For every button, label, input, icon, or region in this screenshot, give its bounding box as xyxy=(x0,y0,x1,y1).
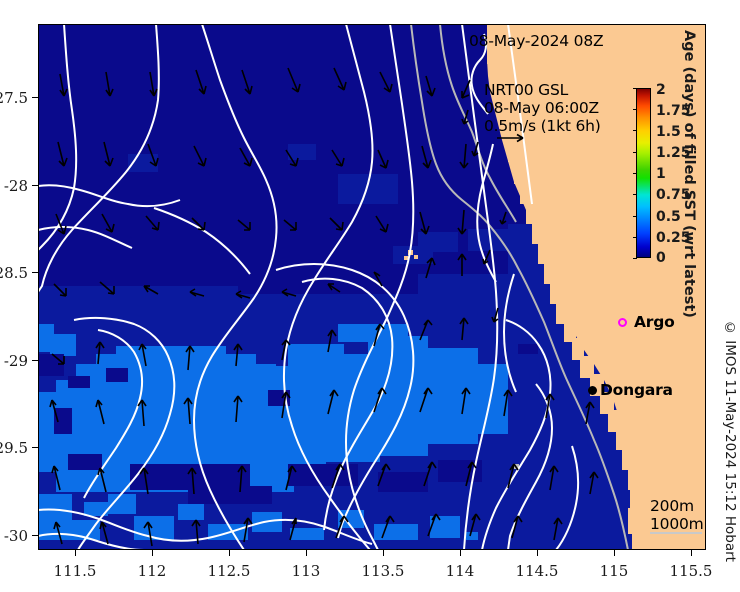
colorbar-tick xyxy=(633,173,637,174)
x-tick xyxy=(306,550,307,556)
bathy-200m-label: 200m xyxy=(650,497,694,515)
colorbar-tick xyxy=(633,237,637,238)
product-time-label: 08-May 06:00Z xyxy=(484,99,599,117)
x-tick-label: 113.5 xyxy=(362,562,405,580)
x-tick xyxy=(537,550,538,556)
bathy-1000m-label: 1000m xyxy=(650,515,704,533)
colorbar-tick xyxy=(633,152,637,153)
figure-canvas: 08-May-2024 08Z NRT00 GSL 08-May 06:00Z … xyxy=(0,0,740,592)
dongara-place-label: Dongara xyxy=(600,381,673,399)
x-tick-label: 114 xyxy=(446,562,475,580)
y-tick xyxy=(32,185,38,186)
timestamp-label: 08-May-2024 08Z xyxy=(469,32,603,50)
x-tick-label: 113 xyxy=(292,562,321,580)
dongara-marker-icon xyxy=(588,386,597,395)
product-name-label: NRT00 GSL xyxy=(484,81,568,99)
x-tick xyxy=(691,550,692,556)
y-tick-label: -27.5 xyxy=(0,89,28,107)
y-tick xyxy=(32,447,38,448)
y-tick-label: -30 xyxy=(0,527,28,545)
bathy-key-line xyxy=(650,532,702,534)
argo-legend-label: Argo xyxy=(634,313,675,331)
colorbar-label: 1 xyxy=(656,166,666,182)
x-tick-label: 114.5 xyxy=(516,562,559,580)
x-tick xyxy=(614,550,615,556)
colorbar-tick xyxy=(633,130,637,131)
x-tick xyxy=(152,550,153,556)
y-tick xyxy=(32,360,38,361)
y-tick xyxy=(32,97,38,98)
y-tick-label: -29.5 xyxy=(0,439,28,457)
y-tick xyxy=(32,535,38,536)
y-tick xyxy=(32,272,38,273)
x-tick xyxy=(460,550,461,556)
x-tick xyxy=(75,550,76,556)
y-tick-label: -28 xyxy=(0,177,28,195)
x-tick xyxy=(383,550,384,556)
x-tick-label: 112.5 xyxy=(208,562,251,580)
y-tick-label: -28.5 xyxy=(0,264,28,282)
colorbar-tick xyxy=(633,109,637,110)
colorbar-label: 2 xyxy=(656,82,666,98)
colorbar-title: Age (days) of filled SST (wrt latest) xyxy=(677,30,697,300)
argo-marker-icon xyxy=(618,318,627,327)
map-raster xyxy=(38,24,706,550)
x-tick xyxy=(229,550,230,556)
x-tick-label: 112 xyxy=(138,562,167,580)
credit-label: © IMOS 11-May-2024 15:12 Hobart xyxy=(722,320,738,562)
colorbar[interactable]: 2 1.75 1.5 1.25 1 0.75 0.5 0.25 0 xyxy=(636,88,651,258)
y-tick-label: -29 xyxy=(0,352,28,370)
map-plot-area[interactable] xyxy=(38,24,706,550)
colorbar-tick xyxy=(633,258,637,259)
x-tick-label: 115 xyxy=(600,562,629,580)
x-tick-label: 111.5 xyxy=(54,562,97,580)
x-tick-label: 115.5 xyxy=(670,562,713,580)
colorbar-label: 0 xyxy=(656,250,666,266)
colorbar-gradient xyxy=(636,88,651,258)
colorbar-tick xyxy=(633,216,637,217)
reference-arrow-icon xyxy=(497,132,529,144)
colorbar-tick xyxy=(633,88,637,89)
colorbar-tick xyxy=(633,194,637,195)
